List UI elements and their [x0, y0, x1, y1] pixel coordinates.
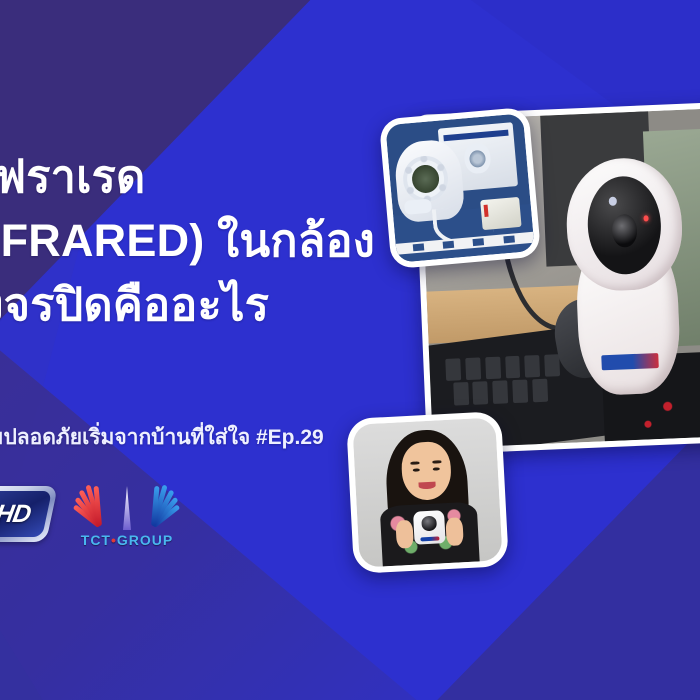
- person-camera-brand-logo: [420, 536, 439, 541]
- tct-wings-icon: [72, 474, 182, 530]
- person-eye-right: [433, 467, 440, 471]
- camera-ir-led-icon: [644, 215, 649, 222]
- inset-ir-led-ring-icon: [402, 154, 451, 204]
- camera-dome-glint: [608, 197, 616, 206]
- headline-block: อินฟราเรด (INFRARED) ในกล้อง วงจรปิดคืออ…: [0, 150, 400, 331]
- tct-wordmark-right: GROUP: [117, 532, 173, 548]
- person-hand-left: [395, 520, 414, 548]
- camera-lens: [611, 213, 637, 247]
- camera-head: [564, 156, 684, 293]
- person-brow-left: [411, 462, 420, 465]
- person-smile: [419, 482, 436, 489]
- hd-badge-logo: HD: [0, 486, 52, 542]
- tct-wordmark-left: TCT: [81, 532, 111, 548]
- photo-inset-image: [385, 113, 535, 263]
- photo-person-holding-camera: [346, 411, 509, 574]
- inset-scene: [385, 113, 535, 263]
- hd-badge-label: HD: [0, 486, 57, 542]
- subtitle-tagline: ความปลอดภัยเริ่มจากบ้านที่ใส่ใจ #Ep.29: [0, 421, 324, 454]
- photo-person-image: [352, 417, 502, 567]
- person-held-camera: [413, 510, 445, 544]
- logo-row: HD TC: [0, 474, 182, 554]
- person-hand-right: [445, 518, 464, 546]
- person-eye-left: [413, 468, 420, 472]
- headline-line-3: วงจรปิดคืออะไร: [0, 278, 400, 331]
- headline-line-2: (INFRARED) ในกล้อง: [0, 214, 400, 267]
- inset-box-camera-art: [464, 142, 492, 175]
- photo-inset-camera-box: [379, 107, 542, 270]
- camera-brand-logo: [601, 353, 658, 370]
- cover-graphic: อินฟราเรด (INFRARED) ในกล้อง วงจรปิดคืออ…: [0, 0, 700, 700]
- person-brow-right: [432, 461, 441, 464]
- person-hands: [397, 508, 462, 548]
- tct-group-wordmark: TCT•GROUP: [72, 532, 182, 548]
- camera-dome: [586, 175, 663, 276]
- tct-wing-right-icon: [129, 474, 179, 528]
- person-scene: [352, 417, 502, 567]
- tct-group-logo: TCT•GROUP: [72, 474, 182, 554]
- pan-tilt-camera: [564, 156, 688, 397]
- tct-wing-left-icon: [75, 474, 125, 528]
- inset-camera-base: [404, 199, 432, 216]
- headline-line-1: อินฟราเรด: [0, 150, 400, 203]
